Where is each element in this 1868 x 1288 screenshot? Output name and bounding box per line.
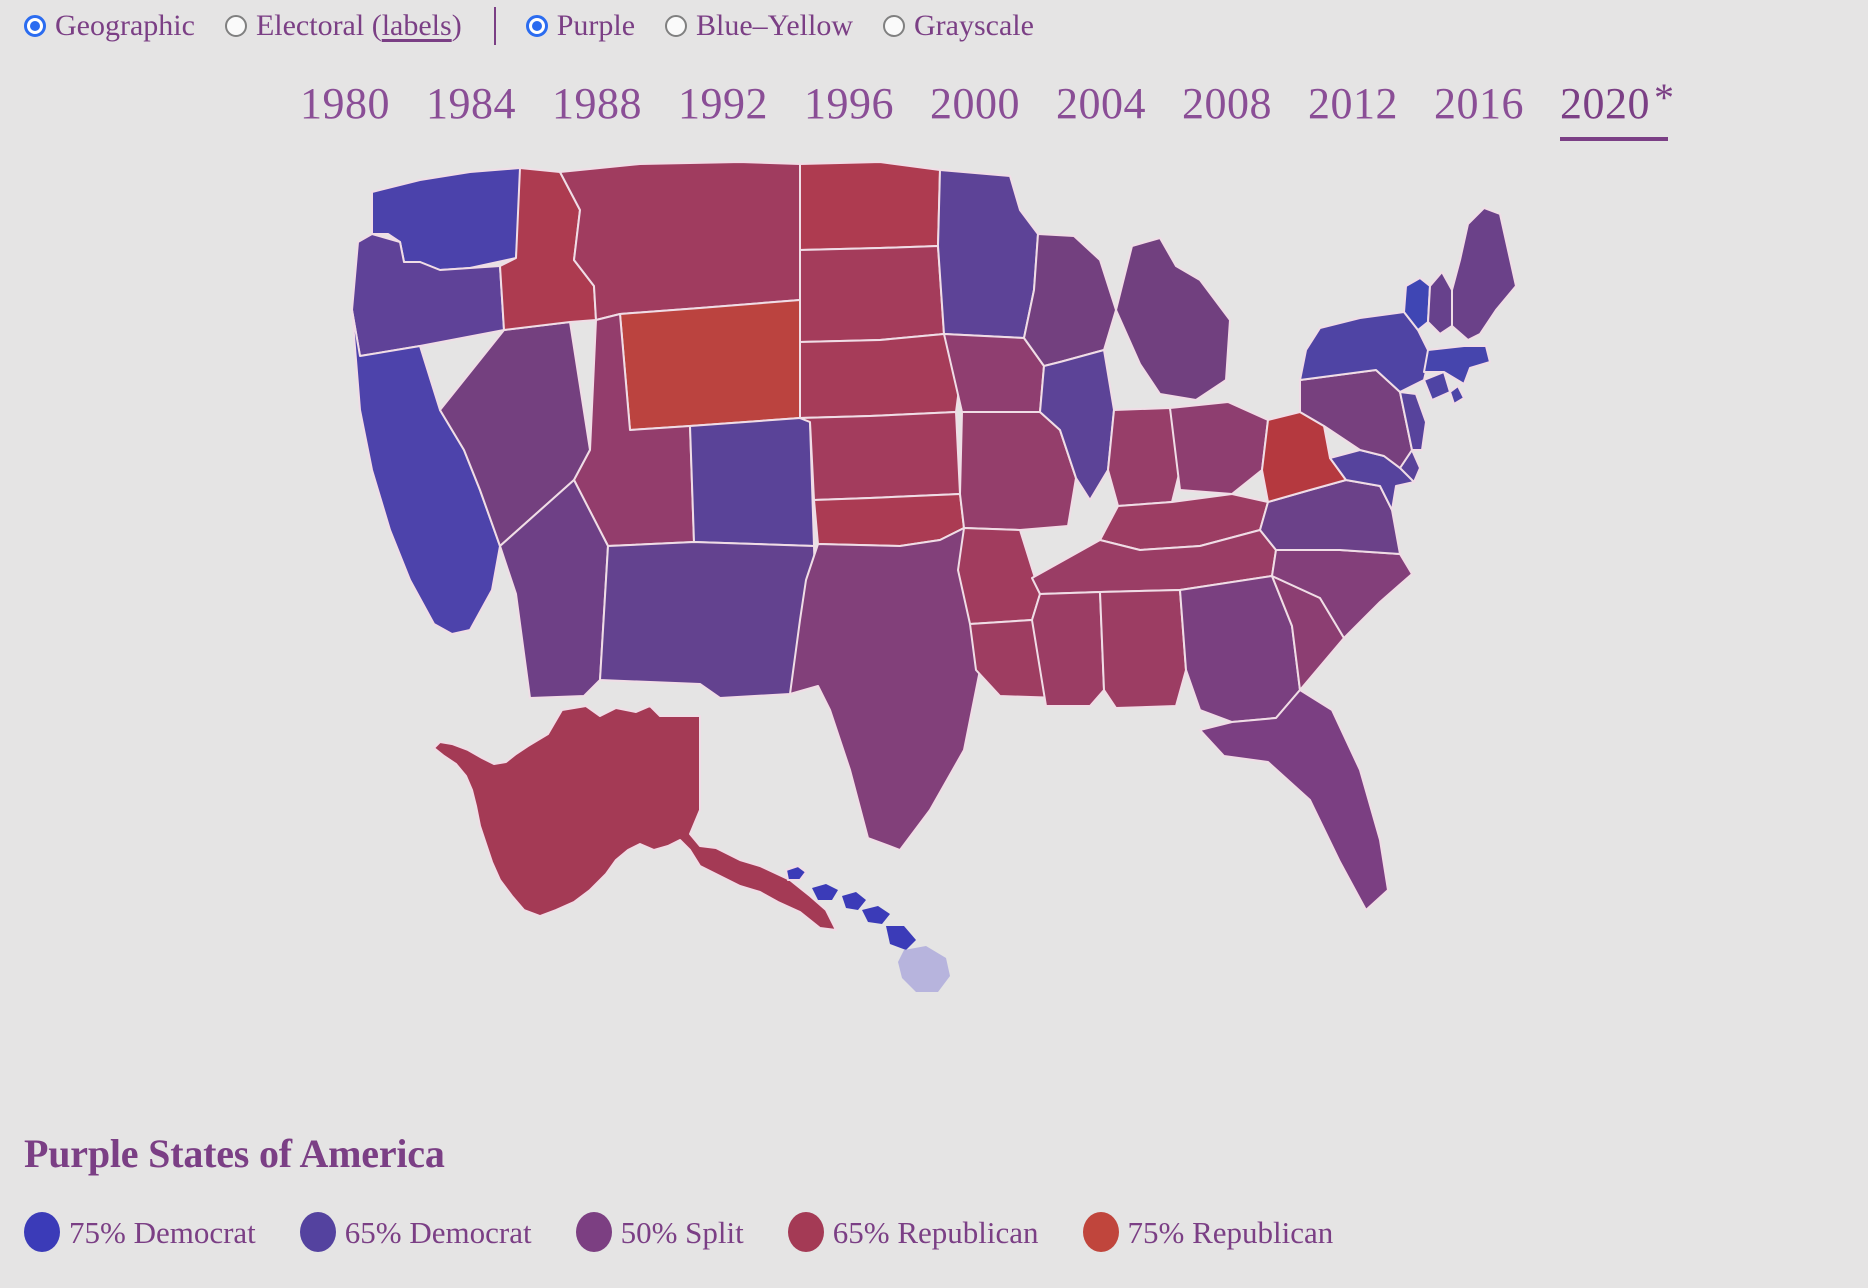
state-tx[interactable]: Texas bbox=[790, 528, 980, 850]
state-hi-island-4[interactable] bbox=[862, 906, 890, 924]
control-bar: Geographic Electoral (labels) Purple Blu… bbox=[0, 0, 1868, 52]
state-me[interactable]: Maine bbox=[1452, 208, 1516, 340]
legend-label: 65% Republican bbox=[833, 1217, 1039, 1248]
radio-option-geographic-label: Geographic bbox=[55, 11, 195, 41]
year-link-1996[interactable]: 1996 bbox=[804, 78, 894, 135]
year-label: 1996 bbox=[804, 79, 894, 128]
state-wi[interactable]: Wisconsin bbox=[1024, 234, 1116, 366]
year-label: 2012 bbox=[1308, 79, 1398, 128]
year-link-1984[interactable]: 1984 bbox=[426, 78, 516, 135]
state-co[interactable]: Colorado bbox=[690, 418, 814, 546]
legend-label: 75% Democrat bbox=[69, 1217, 256, 1248]
year-label: 2008 bbox=[1182, 79, 1272, 128]
map-legend: 75% Democrat65% Democrat50% Split65% Rep… bbox=[24, 1212, 1377, 1252]
radio-grayscale-icon[interactable] bbox=[883, 15, 905, 37]
year-label: 2020 bbox=[1560, 79, 1650, 128]
legend-swatch-icon bbox=[1083, 1212, 1119, 1252]
year-label: 2016 bbox=[1434, 79, 1524, 128]
state-ar[interactable]: Arkansas bbox=[958, 528, 1040, 624]
year-label: 1980 bbox=[300, 79, 390, 128]
year-label: 1992 bbox=[678, 79, 768, 128]
map-svg: WashingtonOregonCaliforniaNevadaIdahoMon… bbox=[0, 150, 1868, 1150]
year-link-2004[interactable]: 2004 bbox=[1056, 78, 1146, 135]
year-link-2016[interactable]: 2016 bbox=[1434, 78, 1524, 135]
radio-geographic-icon[interactable] bbox=[24, 15, 46, 37]
electoral-label-head: Electoral ( bbox=[256, 9, 382, 42]
year-label: 1988 bbox=[552, 79, 642, 128]
year-link-1980[interactable]: 1980 bbox=[300, 78, 390, 135]
electoral-label-tail: ) bbox=[452, 9, 462, 42]
legend-swatch-icon bbox=[576, 1212, 612, 1252]
legend-item: 65% Democrat bbox=[300, 1212, 532, 1252]
year-label: 1984 bbox=[426, 79, 516, 128]
state-in[interactable]: Indiana bbox=[1108, 408, 1180, 506]
state-nh[interactable]: New Hampshire bbox=[1428, 272, 1452, 334]
legend-label: 50% Split bbox=[621, 1217, 744, 1248]
legend-label: 65% Democrat bbox=[345, 1217, 532, 1248]
state-al[interactable]: Alabama bbox=[1100, 590, 1186, 708]
year-link-2020[interactable]: 2020* bbox=[1560, 74, 1675, 135]
radio-option-electoral[interactable]: Electoral (labels) bbox=[225, 11, 462, 41]
state-hi-big-island[interactable] bbox=[898, 946, 950, 992]
state-mi[interactable]: Michigan bbox=[1116, 238, 1230, 400]
radio-option-blue-yellow-label: Blue–Yellow bbox=[696, 11, 853, 41]
state-ms[interactable]: Mississippi bbox=[1032, 592, 1104, 706]
state-fl[interactable]: Florida bbox=[1200, 690, 1388, 910]
year-link-1988[interactable]: 1988 bbox=[552, 78, 642, 135]
radio-purple-icon[interactable] bbox=[526, 15, 548, 37]
legend-label: 75% Republican bbox=[1128, 1217, 1334, 1248]
state-mn[interactable]: Minnesota bbox=[938, 170, 1038, 338]
state-sd[interactable]: South Dakota bbox=[800, 246, 944, 342]
radio-option-electoral-label: Electoral (labels) bbox=[256, 11, 462, 41]
legend-swatch-icon bbox=[24, 1212, 60, 1252]
state-hi[interactable]: Hawaii bbox=[786, 866, 806, 880]
year-link-1992[interactable]: 1992 bbox=[678, 78, 768, 135]
state-ne[interactable]: Nebraska bbox=[800, 334, 962, 418]
radio-option-grayscale[interactable]: Grayscale bbox=[883, 11, 1034, 41]
state-ak[interactable]: Alaska bbox=[434, 706, 836, 930]
state-ks[interactable]: Kansas bbox=[800, 412, 960, 500]
electoral-labels-link[interactable]: labels bbox=[382, 9, 452, 42]
state-oh[interactable]: Ohio bbox=[1170, 402, 1268, 494]
year-asterisk: * bbox=[1654, 75, 1675, 120]
radio-option-purple-label: Purple bbox=[557, 11, 635, 41]
radio-option-purple[interactable]: Purple bbox=[526, 11, 635, 41]
legend-swatch-icon bbox=[788, 1212, 824, 1252]
state-hi-island-5[interactable] bbox=[886, 926, 916, 950]
color-scheme-radio-group: Purple Blue–Yellow Grayscale bbox=[526, 11, 1064, 41]
state-ri[interactable]: Rhode Island bbox=[1450, 386, 1464, 404]
radio-option-geographic[interactable]: Geographic bbox=[24, 11, 195, 41]
legend-item: 75% Democrat bbox=[24, 1212, 256, 1252]
radio-option-blue-yellow[interactable]: Blue–Yellow bbox=[665, 11, 853, 41]
year-label: 2004 bbox=[1056, 79, 1146, 128]
year-link-2000[interactable]: 2000 bbox=[930, 78, 1020, 135]
year-label: 2000 bbox=[930, 79, 1020, 128]
control-group-divider bbox=[494, 7, 496, 45]
legend-swatch-icon bbox=[300, 1212, 336, 1252]
radio-electoral-icon[interactable] bbox=[225, 15, 247, 37]
legend-item: 65% Republican bbox=[788, 1212, 1039, 1252]
legend-item: 50% Split bbox=[576, 1212, 744, 1252]
map-type-radio-group: Geographic Electoral (labels) bbox=[24, 11, 492, 41]
state-nm[interactable]: New Mexico bbox=[600, 542, 818, 698]
radio-blue-yellow-icon[interactable] bbox=[665, 15, 687, 37]
state-mt[interactable]: Montana bbox=[560, 162, 800, 320]
state-nd[interactable]: North Dakota bbox=[800, 162, 940, 250]
radio-option-grayscale-label: Grayscale bbox=[914, 11, 1034, 41]
state-hi-island-3[interactable] bbox=[842, 892, 866, 910]
state-wy[interactable]: Wyoming bbox=[620, 300, 800, 430]
year-nav: 1980198419881992199620002004200820122016… bbox=[300, 74, 1860, 135]
state-hi-island-2[interactable] bbox=[812, 884, 838, 900]
year-link-2012[interactable]: 2012 bbox=[1308, 78, 1398, 135]
map-title: Purple States of America bbox=[24, 1130, 445, 1177]
legend-item: 75% Republican bbox=[1083, 1212, 1334, 1252]
us-choropleth-map: WashingtonOregonCaliforniaNevadaIdahoMon… bbox=[0, 150, 1868, 1150]
state-ct[interactable]: Connecticut bbox=[1424, 372, 1450, 400]
year-link-2008[interactable]: 2008 bbox=[1182, 78, 1272, 135]
